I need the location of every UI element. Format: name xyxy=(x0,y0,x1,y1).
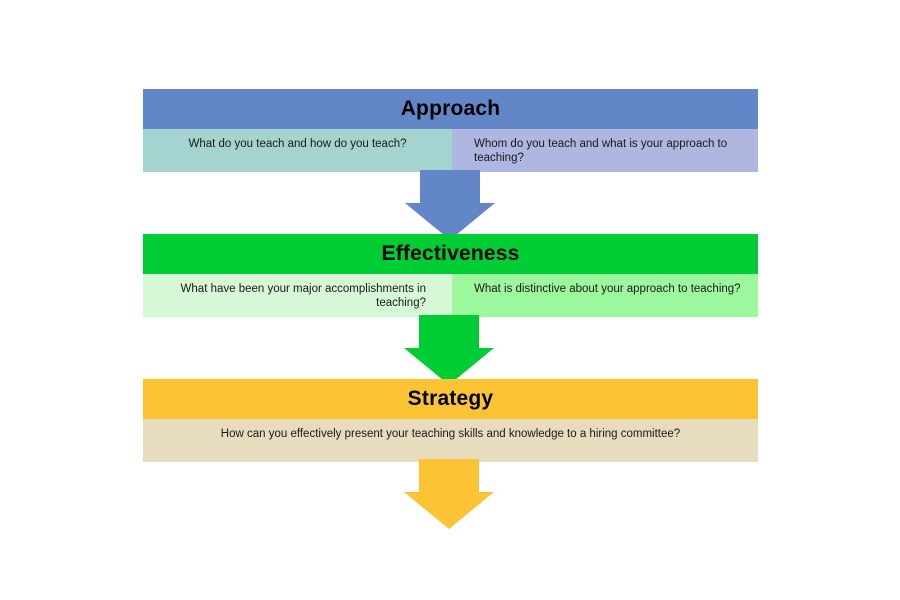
approach-question-left: What do you teach and how do you teach? xyxy=(143,129,452,172)
arrow-shape xyxy=(404,459,494,529)
arrow-down-icon-strategy-out xyxy=(399,459,499,529)
stage-approach-header: Approach xyxy=(143,89,758,129)
stage-approach: Approach What do you teach and how do yo… xyxy=(143,89,758,172)
stage-strategy: Strategy How can you effectively present… xyxy=(143,379,758,462)
effectiveness-question-right: What is distinctive about your approach … xyxy=(452,274,758,317)
stage-strategy-body: How can you effectively present your tea… xyxy=(143,419,758,462)
stage-effectiveness-header: Effectiveness xyxy=(143,234,758,274)
stage-strategy-header: Strategy xyxy=(143,379,758,419)
stage-effectiveness: Effectiveness What have been your major … xyxy=(143,234,758,317)
flowchart-diagram: Approach What do you teach and how do yo… xyxy=(0,0,900,600)
strategy-question: How can you effectively present your tea… xyxy=(143,419,758,462)
arrow-shape xyxy=(405,170,495,240)
arrow-shape xyxy=(404,315,494,385)
effectiveness-question-left: What have been your major accomplishment… xyxy=(143,274,452,317)
arrow-down-icon-approach-to-effectiveness xyxy=(400,170,500,240)
stage-effectiveness-body: What have been your major accomplishment… xyxy=(143,274,758,317)
approach-question-right: Whom do you teach and what is your appro… xyxy=(452,129,758,172)
stage-approach-body: What do you teach and how do you teach? … xyxy=(143,129,758,172)
arrow-down-icon-effectiveness-to-strategy xyxy=(399,315,499,385)
